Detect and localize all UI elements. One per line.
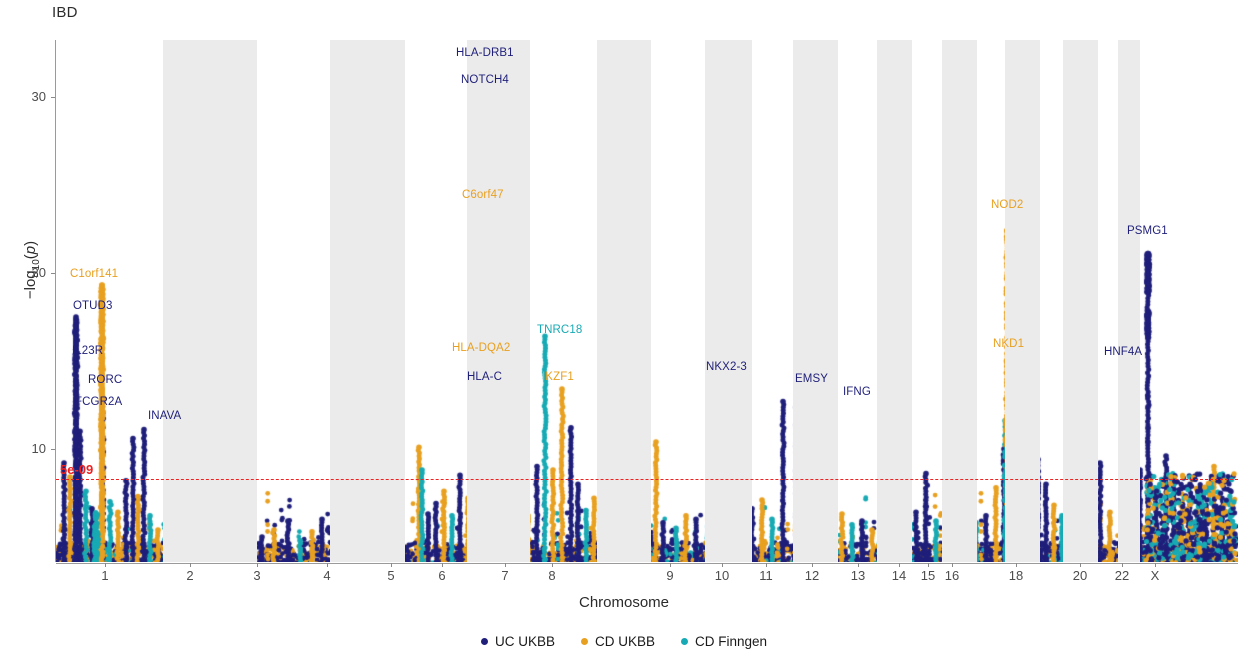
- chromosome-band-12: [793, 40, 838, 562]
- x-tick-label-12: 12: [797, 568, 827, 583]
- x-tick-label-X: X: [1140, 568, 1170, 583]
- x-tick-mark: [1080, 563, 1081, 567]
- page-title: IBD: [52, 4, 78, 21]
- chromosome-band-16: [942, 40, 977, 562]
- legend-marker-icon: [681, 638, 688, 645]
- gene-label-otud3: OTUD3: [73, 300, 112, 312]
- x-tick-label-1: 1: [90, 568, 120, 583]
- x-tick-mark: [1122, 563, 1123, 567]
- chromosome-band-18: [1005, 40, 1040, 562]
- x-tick-label-3: 3: [242, 568, 272, 583]
- gene-label-nkx2-3: NKX2-3: [706, 361, 747, 373]
- gene-label-inava: INAVA: [148, 410, 181, 422]
- chromosome-band-2: [163, 40, 257, 562]
- gene-label-c6orf47: C6orf47: [462, 189, 504, 201]
- y-axis-line: [55, 40, 56, 562]
- chromosome-band-14: [877, 40, 912, 562]
- gene-label-fcgr2a: FCGR2A: [75, 396, 122, 408]
- x-tick-label-8: 8: [537, 568, 567, 583]
- plot-panel: [56, 40, 1238, 562]
- x-tick-mark: [391, 563, 392, 567]
- x-tick-mark: [257, 563, 258, 567]
- x-tick-label-4: 4: [312, 568, 342, 583]
- x-axis-line: [56, 563, 1238, 564]
- x-tick-mark: [505, 563, 506, 567]
- x-tick-mark: [1016, 563, 1017, 567]
- gene-label-c1orf141: C1orf141: [70, 268, 118, 280]
- chromosome-band-10: [705, 40, 752, 562]
- x-tick-label-10: 10: [707, 568, 737, 583]
- x-tick-mark: [812, 563, 813, 567]
- legend-item-0[interactable]: UC UKBB: [481, 634, 555, 649]
- legend-label: CD UKBB: [595, 634, 655, 649]
- gene-label-ikzf1: IKZF1: [542, 371, 574, 383]
- gene-label-psmg1: PSMG1: [1127, 225, 1168, 237]
- gene-label-ifng: IFNG: [843, 386, 871, 398]
- x-tick-label-2: 2: [175, 568, 205, 583]
- legend-item-1[interactable]: CD UKBB: [581, 634, 655, 649]
- gene-label-rorc: RORC: [88, 374, 122, 386]
- x-tick-mark: [552, 563, 553, 567]
- chromosome-band-6: [467, 40, 530, 562]
- x-tick-label-13: 13: [843, 568, 873, 583]
- x-tick-mark: [670, 563, 671, 567]
- x-tick-label-20: 20: [1065, 568, 1095, 583]
- y-tick-label: 30: [16, 89, 46, 104]
- gene-label-emsy: EMSY: [795, 373, 828, 385]
- chromosome-band-4: [330, 40, 405, 562]
- chromosome-band-8: [597, 40, 651, 562]
- significance-threshold-label: 5e-09: [60, 462, 93, 477]
- gene-label-hla-drb1: HLA-DRB1: [456, 47, 514, 59]
- x-tick-mark: [766, 563, 767, 567]
- x-tick-label-14: 14: [884, 568, 914, 583]
- x-tick-label-9: 9: [655, 568, 685, 583]
- gene-label-notch4: NOTCH4: [461, 74, 509, 86]
- x-tick-mark: [858, 563, 859, 567]
- x-tick-mark: [899, 563, 900, 567]
- y-tick-mark: [51, 449, 55, 450]
- y-tick-label: 10: [16, 441, 46, 456]
- gene-label-tnrc18: TNRC18: [537, 324, 582, 336]
- legend-marker-icon: [481, 638, 488, 645]
- gene-label-nkd1: NKD1: [993, 338, 1024, 350]
- x-axis-title: Chromosome: [0, 594, 1248, 611]
- x-tick-label-18: 18: [1001, 568, 1031, 583]
- significance-threshold-line: [56, 479, 1238, 480]
- x-tick-mark: [928, 563, 929, 567]
- x-tick-mark: [952, 563, 953, 567]
- gene-label-hnf4a: HNF4A: [1104, 346, 1142, 358]
- x-tick-label-5: 5: [376, 568, 406, 583]
- x-tick-label-22: 22: [1107, 568, 1137, 583]
- x-tick-mark: [1155, 563, 1156, 567]
- x-tick-mark: [327, 563, 328, 567]
- x-tick-mark: [190, 563, 191, 567]
- chromosome-band-22: [1118, 40, 1140, 562]
- chromosome-band-20: [1063, 40, 1098, 562]
- x-tick-mark: [442, 563, 443, 567]
- x-tick-mark: [105, 563, 106, 567]
- x-tick-label-16: 16: [937, 568, 967, 583]
- x-tick-label-7: 7: [490, 568, 520, 583]
- legend: UC UKBBCD UKBBCD Finngen: [0, 634, 1248, 649]
- gene-label-hla-dqa2: HLA-DQA2: [452, 342, 510, 354]
- y-tick-mark: [51, 97, 55, 98]
- y-tick-label: 20: [16, 265, 46, 280]
- gene-label-nod2: NOD2: [991, 199, 1023, 211]
- x-tick-label-11: 11: [751, 568, 781, 583]
- legend-marker-icon: [581, 638, 588, 645]
- legend-label: UC UKBB: [495, 634, 555, 649]
- y-tick-mark: [51, 273, 55, 274]
- gene-label-hla-c: HLA-C: [467, 371, 502, 383]
- x-tick-mark: [722, 563, 723, 567]
- gene-label-il23r: IL23R: [72, 345, 103, 357]
- x-tick-label-6: 6: [427, 568, 457, 583]
- legend-label: CD Finngen: [695, 634, 767, 649]
- legend-item-2[interactable]: CD Finngen: [681, 634, 767, 649]
